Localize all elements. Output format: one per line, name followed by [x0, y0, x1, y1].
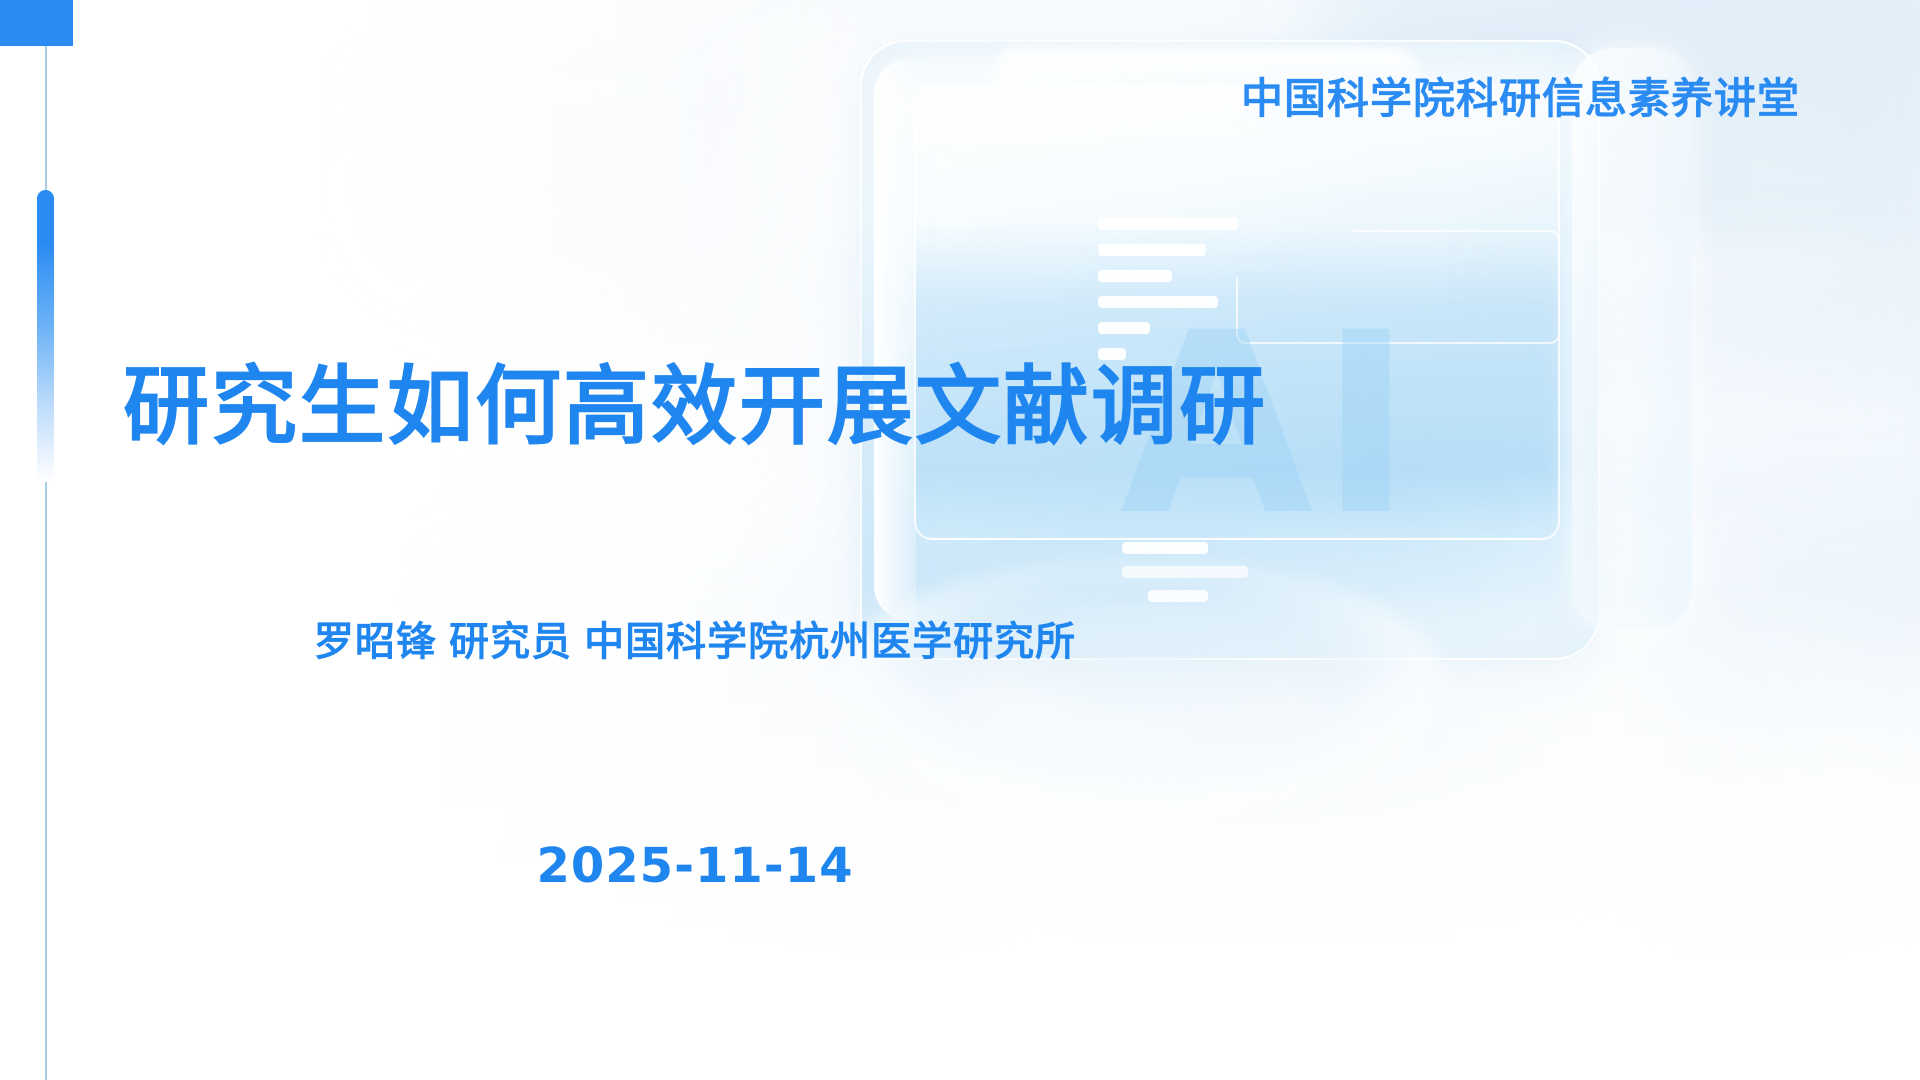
background-pedestal: [0, 0, 1920, 1080]
background-base-gradient: [0, 0, 1920, 1080]
glass-ai-device: AI: [0, 0, 1920, 1080]
background-white-veil: [0, 0, 1920, 1080]
slide-title: 研究生如何高效开展文献调研: [90, 358, 1300, 457]
background-bench-streaks: [0, 0, 1920, 1080]
background-blur-shapes: [0, 0, 1920, 1080]
corner-block-decoration: [0, 0, 73, 46]
accent-bar-decoration: [37, 190, 54, 482]
presentation-slide: AI 中国科学院科研信息素养讲堂 研究生如何高效开展文献调研 罗昭锋 研究员 中…: [0, 0, 1920, 1080]
slide-date: 2025-11-14: [90, 838, 1300, 896]
background-left-white-veil: [0, 0, 1920, 1080]
presenter-affiliation: 罗昭锋 研究员 中国科学院杭州医学研究所: [90, 618, 1300, 666]
series-title: 中国科学院科研信息素养讲堂: [0, 76, 1800, 122]
